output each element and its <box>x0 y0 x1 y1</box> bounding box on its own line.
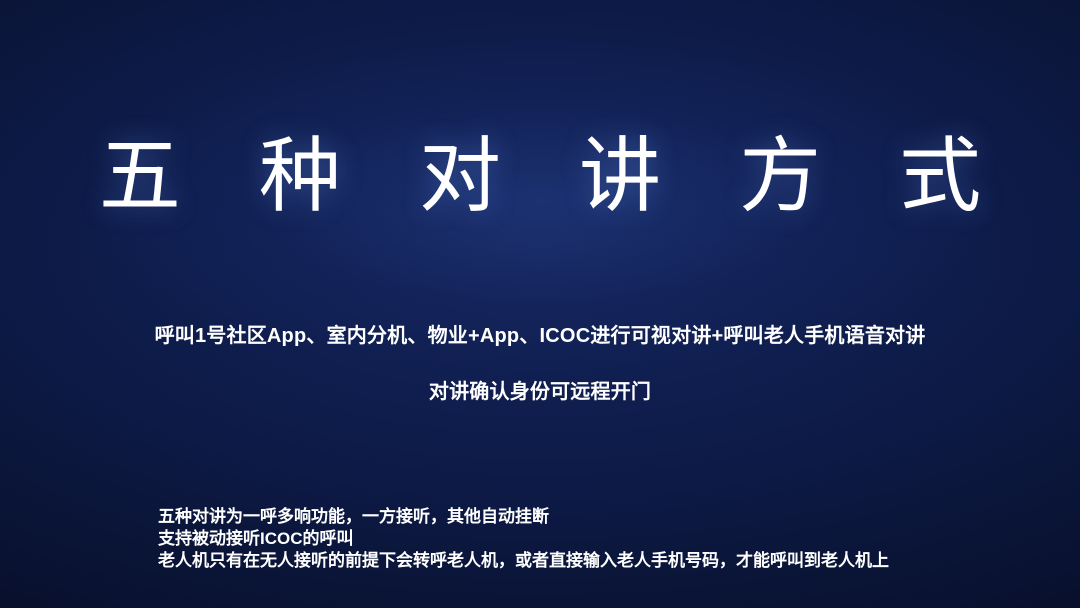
note-line-2: 支持被动接听ICOC的呼叫 <box>158 528 889 550</box>
notes-block: 五种对讲为一呼多响功能，一方接听，其他自动挂断 支持被动接听ICOC的呼叫 老人… <box>158 506 889 572</box>
note-line-1: 五种对讲为一呼多响功能，一方接听，其他自动挂断 <box>158 506 889 528</box>
note-line-3: 老人机只有在无人接听的前提下会转呼老人机，或者直接输入老人手机号码，才能呼叫到老… <box>158 550 889 572</box>
subtitle-line-2: 对讲确认身份可远程开门 <box>0 381 1080 403</box>
subtitle-block: 呼叫1号社区App、室内分机、物业+App、ICOC进行可视对讲+呼叫老人手机语… <box>0 325 1080 403</box>
subtitle-line-1: 呼叫1号社区App、室内分机、物业+App、ICOC进行可视对讲+呼叫老人手机语… <box>0 325 1080 347</box>
slide-root: 五 种 对 讲 方 式 呼叫1号社区App、室内分机、物业+App、ICOC进行… <box>0 0 1080 608</box>
page-title: 五 种 对 讲 方 式 <box>0 132 1080 222</box>
